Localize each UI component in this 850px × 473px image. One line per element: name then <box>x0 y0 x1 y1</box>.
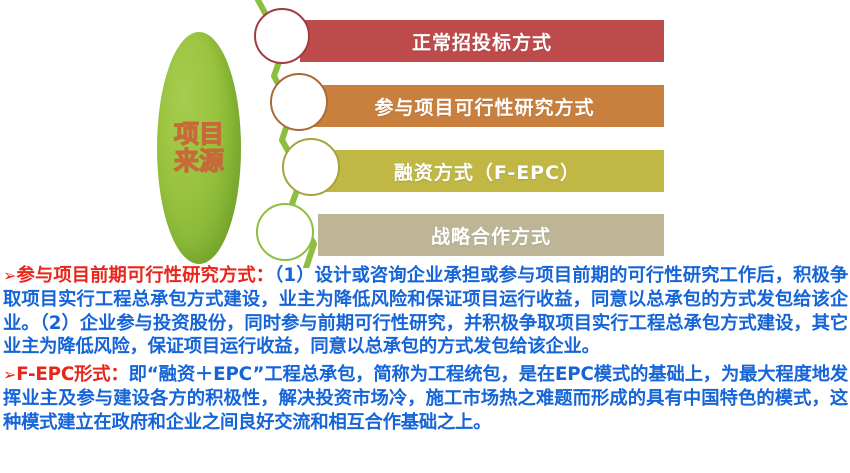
process-node-3[interactable] <box>282 138 340 196</box>
process-bar-4-label: 战略合作方式 <box>431 222 551 249</box>
process-bar-3-label: 融资方式（F-EPC） <box>394 158 580 185</box>
paragraph-2-text: 即“融资＋EPC”工程总承包，简称为工程统包，是在EPC模式的基础上，为最大程度… <box>3 364 848 433</box>
body-text-block: ➢参与项目前期可行性研究方式：（1）设计或咨询企业承担或参与项目前期的可行性研究… <box>3 264 848 436</box>
process-bar-4[interactable]: 战略合作方式 <box>318 214 664 256</box>
source-ellipse-label: 项目 来源 <box>157 122 241 175</box>
process-bar-3[interactable]: 融资方式（F-EPC） <box>310 150 664 192</box>
paragraph-2: ➢F-EPC形式：即“融资＋EPC”工程总承包，简称为工程统包，是在EPC模式的… <box>3 363 848 434</box>
process-bar-2[interactable]: 参与项目可行性研究方式 <box>305 85 664 127</box>
process-node-2[interactable] <box>270 73 328 131</box>
paragraph-1-lead: 参与项目前期可行性研究方式： <box>16 265 274 286</box>
process-diagram: 正常招投标方式 参与项目可行性研究方式 融资方式（F-EPC） 战略合作方式 项… <box>0 0 850 265</box>
process-bar-2-label: 参与项目可行性研究方式 <box>374 93 594 120</box>
paragraph-1: ➢参与项目前期可行性研究方式：（1）设计或咨询企业承担或参与项目前期的可行性研究… <box>3 264 848 359</box>
process-bar-1[interactable]: 正常招投标方式 <box>300 20 664 62</box>
process-bar-1-label: 正常招投标方式 <box>412 28 552 55</box>
paragraph-2-lead: F-EPC形式： <box>16 364 128 385</box>
bullet-arrow-icon: ➢ <box>3 266 16 285</box>
slide-canvas: 正常招投标方式 参与项目可行性研究方式 融资方式（F-EPC） 战略合作方式 项… <box>0 0 850 473</box>
source-ellipse[interactable]: 项目 来源 <box>157 32 241 264</box>
process-node-1[interactable] <box>254 8 310 64</box>
bullet-arrow-icon-2: ➢ <box>3 365 16 384</box>
process-node-4[interactable] <box>256 203 314 261</box>
